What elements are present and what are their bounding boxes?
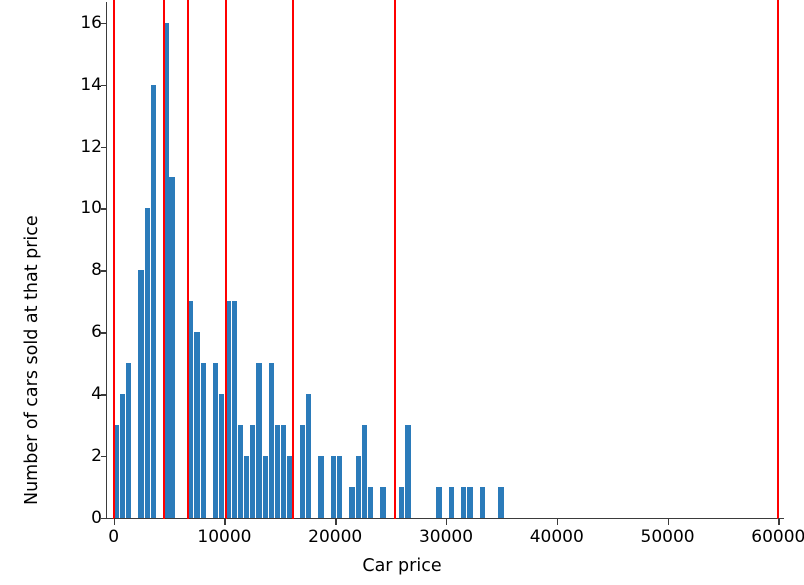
x-tick-label: 0 [108,527,119,547]
y-tick-label: 14 [80,75,102,95]
y-tick-label: 4 [91,384,102,404]
x-tick-label: 20000 [308,527,362,547]
histogram-bar [169,177,174,518]
histogram-bar [238,425,243,518]
y-tick-label: 12 [80,137,102,157]
histogram-bar [194,332,199,518]
histogram-bar [306,394,311,518]
histogram-bar [145,208,150,518]
histogram-bar [331,456,336,518]
x-tick-label: 10000 [197,527,251,547]
x-tick-mark [114,518,115,525]
x-tick-label: 50000 [641,527,695,547]
histogram-bar [232,301,237,518]
threshold-line [163,0,165,519]
histogram-bar [436,487,441,518]
histogram-bar [368,487,373,518]
y-tick-label: 2 [91,446,102,466]
histogram-bar [498,487,503,518]
x-axis-label: Car price [0,556,804,576]
threshold-line [225,0,227,519]
histogram-bar [244,456,249,518]
y-axis-label: Number of cars sold at that price [22,215,42,505]
histogram-bar [256,363,261,518]
threshold-line [394,0,396,519]
x-tick-mark [778,518,779,525]
threshold-line [777,0,779,519]
histogram-bar [219,394,224,518]
histogram-bar [250,425,255,518]
y-tick-label: 16 [80,13,102,33]
y-tick-label: 0 [91,508,102,528]
histogram-bar [151,85,156,518]
x-tick-mark [335,518,336,525]
histogram-bar [120,394,125,518]
histogram-bar [480,487,485,518]
histogram-bar [449,487,454,518]
histogram-bar [201,363,206,518]
histogram-bar [281,425,286,518]
histogram-bar [126,363,131,518]
threshold-line [113,0,115,519]
threshold-line [292,0,294,519]
x-tick-mark [668,518,669,525]
histogram-bar [349,487,354,518]
histogram-bar [356,456,361,518]
x-tick-mark [557,518,558,525]
histogram-bar [300,425,305,518]
histogram-bar [467,487,472,518]
x-tick-label: 60000 [751,527,804,547]
x-tick-label: 30000 [419,527,473,547]
x-tick-mark [446,518,447,525]
histogram-bar [362,425,367,518]
histogram-bar [269,363,274,518]
histogram-bar [275,425,280,518]
histogram-bar [405,425,410,518]
y-axis-label-wrapper: Number of cars sold at that price [0,0,28,520]
threshold-line [187,0,189,519]
x-tick-mark [224,518,225,525]
histogram-bar [399,487,404,518]
histogram-bar [318,456,323,518]
histogram-bar [337,456,342,518]
x-tick-label: 40000 [530,527,584,547]
histogram-figure: Number of cars sold at that price 024681… [0,0,804,585]
histogram-bar [213,363,218,518]
y-tick-label: 6 [91,322,102,342]
histogram-bar [461,487,466,518]
histogram-bar [263,456,268,518]
y-tick-label: 10 [80,198,102,218]
histogram-bar [380,487,385,518]
y-tick-label: 8 [91,260,102,280]
histogram-bar [138,270,143,518]
plot-area: 0246810121416 01000020000300004000050000… [106,2,784,519]
